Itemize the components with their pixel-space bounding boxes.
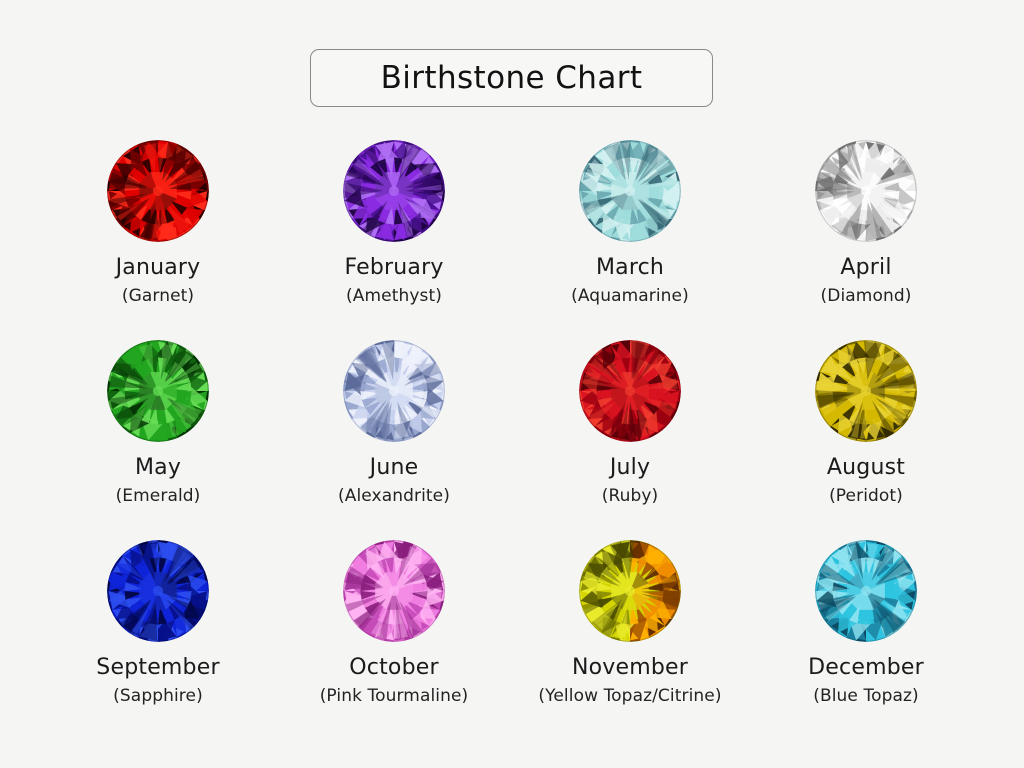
gem-ruby: [577, 338, 683, 444]
birthstone-cell: June(Alexandrite): [276, 338, 512, 538]
stone-label: (Garnet): [122, 288, 194, 305]
gem-blue-topaz: [813, 538, 919, 644]
stone-label: (Sapphire): [113, 688, 203, 705]
birthstone-cell: January(Garnet): [40, 138, 276, 338]
birthstone-grid: January(Garnet)February(Amethyst)March(A…: [40, 138, 984, 738]
gem-icon: [341, 138, 447, 244]
stone-label: (Ruby): [602, 488, 659, 505]
stone-label: (Aquamarine): [571, 288, 689, 305]
birthstone-cell: October(Pink Tourmaline): [276, 538, 512, 738]
gem-icon: [577, 138, 683, 244]
chart-title-box: Birthstone Chart: [310, 49, 713, 107]
gem-icon: [105, 538, 211, 644]
month-label: September: [96, 657, 219, 679]
month-label: November: [572, 657, 688, 679]
month-label: March: [596, 257, 664, 279]
month-label: May: [135, 457, 181, 479]
gem-icon: [577, 538, 683, 644]
stone-label: (Diamond): [821, 288, 912, 305]
gem-icon: [813, 338, 919, 444]
birthstone-cell: September(Sapphire): [40, 538, 276, 738]
page-title: Birthstone Chart: [381, 60, 643, 96]
month-label: July: [610, 457, 650, 479]
birthstone-cell: March(Aquamarine): [512, 138, 748, 338]
gem-icon: [341, 338, 447, 444]
stone-label: (Amethyst): [346, 288, 442, 305]
gem-icon: [341, 538, 447, 644]
gem-diamond: [813, 138, 919, 244]
gem-icon: [105, 338, 211, 444]
gem-alexandrite: [341, 338, 447, 444]
month-label: December: [808, 657, 924, 679]
gem-icon: [577, 338, 683, 444]
gem-garnet: [105, 138, 211, 244]
stone-label: (Blue Topaz): [813, 688, 919, 705]
month-label: October: [349, 657, 438, 679]
gem-sapphire: [105, 538, 211, 644]
month-label: January: [116, 257, 201, 279]
birthstone-cell: February(Amethyst): [276, 138, 512, 338]
gem-icon: [813, 138, 919, 244]
gem-peridot: [813, 338, 919, 444]
birthstone-cell: July(Ruby): [512, 338, 748, 538]
gem-pink-tourmaline: [341, 538, 447, 644]
stone-label: (Peridot): [829, 488, 903, 505]
birthstone-chart: Birthstone Chart January(Garnet)February…: [0, 0, 1024, 768]
birthstone-cell: April(Diamond): [748, 138, 984, 338]
gem-icon: [105, 138, 211, 244]
stone-label: (Alexandrite): [338, 488, 450, 505]
month-label: February: [344, 257, 443, 279]
month-label: June: [370, 457, 419, 479]
birthstone-cell: December(Blue Topaz): [748, 538, 984, 738]
gem-yellow-topaz-citrine: [577, 538, 683, 644]
gem-icon: [813, 538, 919, 644]
birthstone-cell: November(Yellow Topaz/Citrine): [512, 538, 748, 738]
gem-emerald: [105, 338, 211, 444]
stone-label: (Emerald): [116, 488, 201, 505]
stone-label: (Pink Tourmaline): [320, 688, 469, 705]
month-label: April: [840, 257, 891, 279]
stone-label: (Yellow Topaz/Citrine): [538, 688, 721, 705]
month-label: August: [827, 457, 905, 479]
gem-aquamarine: [577, 138, 683, 244]
birthstone-cell: August(Peridot): [748, 338, 984, 538]
birthstone-cell: May(Emerald): [40, 338, 276, 538]
gem-amethyst: [341, 138, 447, 244]
